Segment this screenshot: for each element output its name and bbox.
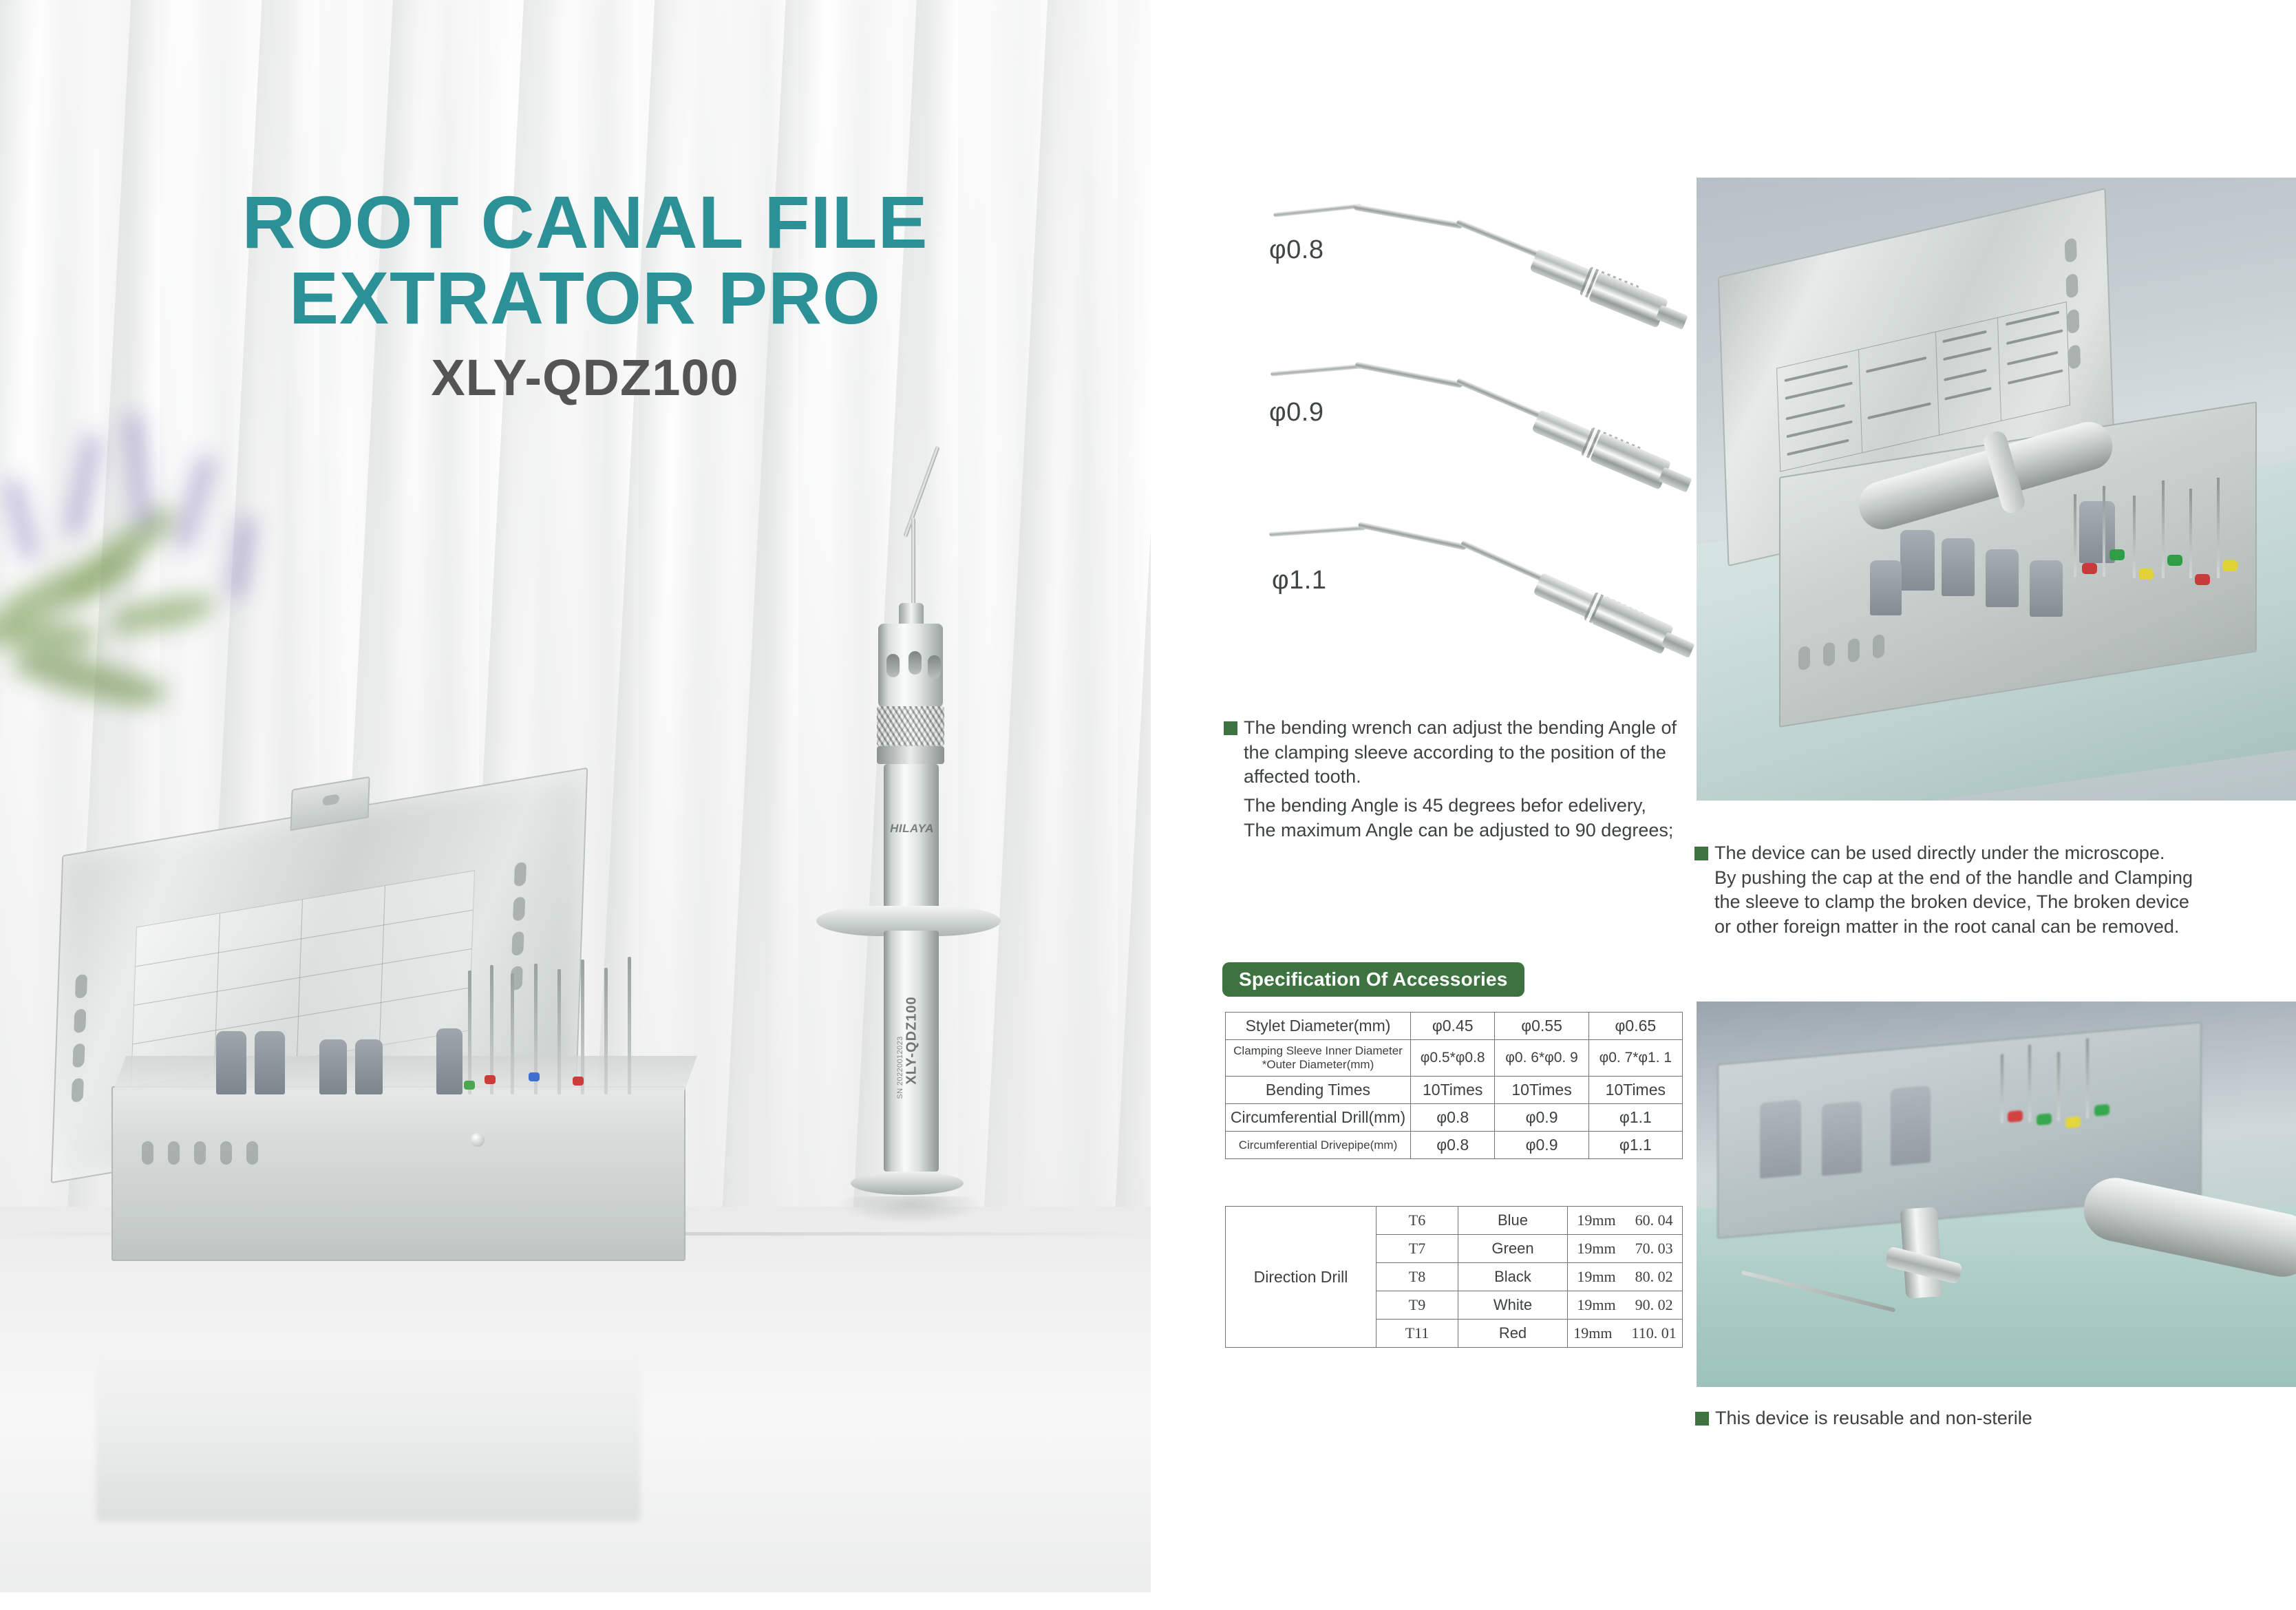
case-reflection (96, 1349, 640, 1521)
spec-row-head-1-line1: Clamping Sleeve Inner Diameter (1229, 1044, 1407, 1058)
clamping-sleeve-tip-diagrams: φ0.8 φ0.9 φ1.1 (1211, 172, 1707, 675)
dd-val-0: 60. 04 (1635, 1211, 1673, 1229)
handpiece-needle-shaft (911, 518, 915, 607)
tip-diagram-2: φ1.1 (1211, 494, 1707, 625)
spec-cell-1-0: φ0.5*φ0.8 (1411, 1040, 1495, 1077)
bullet-bending-line-3: affected tooth. (1224, 765, 1692, 790)
bullet-bending-wrench: The bending wrench can adjust the bendin… (1224, 716, 1692, 843)
spec-cell-1-2: φ0. 7*φ1. 1 (1588, 1040, 1682, 1077)
handpiece-collar-ring (877, 746, 944, 764)
dd-len-3: 19mm (1577, 1296, 1615, 1313)
spec-cell-4-0: φ0.8 (1411, 1132, 1495, 1159)
direction-drill-head: Direction Drill (1226, 1207, 1376, 1348)
spec-cell-1-1: φ0. 6*φ0. 9 (1495, 1040, 1588, 1077)
dd-len-0: 19mm (1577, 1211, 1615, 1229)
bullet-marker-icon (1694, 847, 1708, 860)
tip-label-0: φ0.8 (1269, 235, 1324, 265)
spec-section-badge: Specification Of Accessories (1222, 962, 1524, 997)
handpiece-model-engraving: XLY-QDZ100 (904, 989, 920, 1092)
handpiece-shadow (838, 1196, 983, 1224)
handpiece-chuck (878, 624, 943, 708)
direction-drill-table: Direction Drill T6 Blue 19mm60. 04 T7 Gr… (1225, 1206, 1683, 1348)
dd-val-4: 110. 01 (1632, 1324, 1677, 1342)
table-row: Stylet Diameter(mm) φ0.45 φ0.55 φ0.65 (1226, 1013, 1683, 1040)
spec-cell-0-1: φ0.55 (1495, 1013, 1588, 1040)
case-tray (111, 1086, 685, 1261)
bullet-microscope-line-1: The device can be used directly under th… (1714, 843, 2165, 863)
spec-row-head-4: Circumferential Drivepipe(mm) (1226, 1132, 1411, 1159)
detail-photo-sleeve-and-handpiece (1697, 1002, 2296, 1387)
handpiece-product: HILAYA XLY-QDZ100 SN 20220012023 (845, 441, 969, 1253)
handpiece-thumb-plunger (851, 1172, 964, 1195)
hero-product-photo: HILAYA XLY-QDZ100 SN 20220012023 ROOT CA… (0, 0, 1151, 1592)
handpiece-nose (899, 603, 924, 626)
spec-cell-4-2: φ1.1 (1588, 1132, 1682, 1159)
page-title: ROOT CANAL FILE EXTRATOR PRO XLY-QDZ100 (172, 184, 998, 407)
dd-val-2: 80. 02 (1635, 1268, 1673, 1285)
bullet-bending-line-1: The bending wrench can adjust the bendin… (1244, 717, 1677, 738)
bullet-bending-line-4: The bending Angle is 45 degrees befor ed… (1224, 794, 1692, 818)
spec-row-head-1-line2: *Outer Diameter(mm) (1229, 1058, 1407, 1072)
tip-label-1: φ0.9 (1269, 398, 1324, 427)
dd-meas-2: 19mm80. 02 (1568, 1263, 1683, 1291)
dd-code-3: T9 (1376, 1291, 1458, 1320)
sterilization-case (50, 812, 807, 1349)
spec-cell-2-0: 10Times (1411, 1077, 1495, 1104)
spec-cell-3-0: φ0.8 (1411, 1104, 1495, 1132)
spec-cell-0-0: φ0.45 (1411, 1013, 1495, 1040)
dd-meas-3: 19mm90. 02 (1568, 1291, 1683, 1320)
title-line-2: EXTRATOR PRO (172, 260, 998, 336)
spec-row-head-2: Bending Times (1226, 1077, 1411, 1104)
tip-diagram-1: φ0.9 (1211, 332, 1707, 463)
spec-cell-2-2: 10Times (1588, 1077, 1682, 1104)
spec-cell-0-2: φ0.65 (1588, 1013, 1682, 1040)
table-row: Circumferential Drivepipe(mm) φ0.8 φ0.9 … (1226, 1132, 1683, 1159)
bullet-marker-icon (1695, 1412, 1709, 1426)
tip-label-2: φ1.1 (1272, 566, 1326, 595)
case-lid-engraved-chart (131, 870, 475, 1088)
table-row: Direction Drill T6 Blue 19mm60. 04 (1226, 1207, 1683, 1235)
bullet-bending-line-5: The maximum Angle can be adjusted to 90 … (1224, 818, 1692, 843)
dd-color-1: Green (1458, 1235, 1568, 1263)
bullet-microscope-line-3: the sleeve to clamp the broken device, T… (1694, 890, 2296, 915)
spec-cell-4-1: φ0.9 (1495, 1132, 1588, 1159)
bullet-marker-icon (1224, 721, 1237, 735)
dd-val-3: 90. 02 (1635, 1296, 1673, 1313)
bullet-microscope-line-4: or other foreign matter in the root cana… (1694, 915, 2296, 940)
bullet-microscope-line-2: By pushing the cap at the end of the han… (1694, 866, 2296, 891)
title-line-1: ROOT CANAL FILE (172, 184, 998, 260)
spec-row-head-3: Circumferential Drill(mm) (1226, 1104, 1411, 1132)
handpiece-brand-engraving: HILAYA (888, 822, 936, 845)
dd-code-2: T8 (1376, 1263, 1458, 1291)
bullet-reusable-note: This device is reusable and non-sterile (1695, 1408, 2032, 1429)
dd-color-2: Black (1458, 1263, 1568, 1291)
dd-code-0: T6 (1376, 1207, 1458, 1235)
dd-color-3: White (1458, 1291, 1568, 1320)
dd-code-4: T11 (1376, 1320, 1458, 1348)
bullet-bending-line-2: the clamping sleeve according to the pos… (1224, 741, 1692, 765)
spec-cell-3-1: φ0.9 (1495, 1104, 1588, 1132)
dd-color-0: Blue (1458, 1207, 1568, 1235)
handpiece-serial-engraving: SN 20220012023 (896, 1016, 904, 1119)
table-row: Clamping Sleeve Inner Diameter *Outer Di… (1226, 1040, 1683, 1077)
title-model-number: XLY-QDZ100 (172, 348, 998, 407)
dd-len-4: 19mm (1573, 1324, 1612, 1342)
handpiece-knurled-grip (877, 706, 944, 746)
spec-row-head-1: Clamping Sleeve Inner Diameter *Outer Di… (1226, 1040, 1411, 1077)
dd-len-2: 19mm (1577, 1268, 1615, 1285)
dd-meas-4: 19mm110. 01 (1568, 1320, 1683, 1348)
handpiece-needle-tip (903, 445, 940, 538)
spec-cell-2-1: 10Times (1495, 1077, 1588, 1104)
spec-cell-3-2: φ1.1 (1588, 1104, 1682, 1132)
table-row: Circumferential Drill(mm) φ0.8 φ0.9 φ1.1 (1226, 1104, 1683, 1132)
tip-diagram-0: φ0.8 (1211, 172, 1707, 303)
dd-val-1: 70. 03 (1635, 1240, 1673, 1257)
open-case-photo (1697, 178, 2296, 801)
bullet-reusable-text: This device is reusable and non-sterile (1715, 1408, 2032, 1428)
dd-color-4: Red (1458, 1320, 1568, 1348)
spec-row-head-0: Stylet Diameter(mm) (1226, 1013, 1411, 1040)
specification-table: Stylet Diameter(mm) φ0.45 φ0.55 φ0.65 Cl… (1225, 1012, 1683, 1159)
dd-code-1: T7 (1376, 1235, 1458, 1263)
table-row: Bending Times 10Times 10Times 10Times (1226, 1077, 1683, 1104)
dd-meas-1: 19mm70. 03 (1568, 1235, 1683, 1263)
bullet-microscope-use: The device can be used directly under th… (1694, 841, 2296, 940)
dd-meas-0: 19mm60. 04 (1568, 1207, 1683, 1235)
case-tray-rim (113, 1056, 697, 1092)
dd-len-1: 19mm (1577, 1240, 1615, 1257)
